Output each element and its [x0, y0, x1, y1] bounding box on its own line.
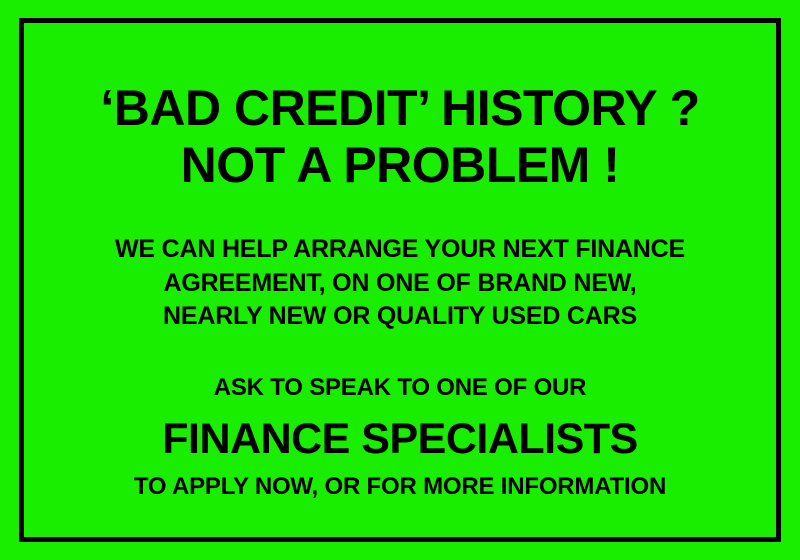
poster-content: ‘BAD CREDIT’ HISTORY ? NOT A PROBLEM ! W…: [19, 18, 781, 542]
body-text-block: WE CAN HELP ARRANGE YOUR NEXT FINANCE AG…: [19, 233, 781, 334]
body-line-1: WE CAN HELP ARRANGE YOUR NEXT FINANCE: [19, 233, 781, 267]
headline-line-1: ‘BAD CREDIT’ HISTORY ?: [19, 80, 781, 137]
poster: ‘BAD CREDIT’ HISTORY ? NOT A PROBLEM ! W…: [0, 0, 800, 560]
headline-line-2: NOT A PROBLEM !: [19, 137, 781, 194]
headline-block: ‘BAD CREDIT’ HISTORY ? NOT A PROBLEM !: [19, 80, 781, 194]
body-line-3: NEARLY NEW OR QUALITY USED CARS: [19, 300, 781, 334]
ask-to-speak-line: ASK TO SPEAK TO ONE OF OUR: [19, 374, 781, 403]
body-line-2: AGREEMENT, ON ONE OF BRAND NEW,: [19, 267, 781, 301]
apply-now-line: TO APPLY NOW, OR FOR MORE INFORMATION: [19, 473, 781, 502]
finance-specialists-heading: FINANCE SPECIALISTS: [19, 416, 781, 462]
